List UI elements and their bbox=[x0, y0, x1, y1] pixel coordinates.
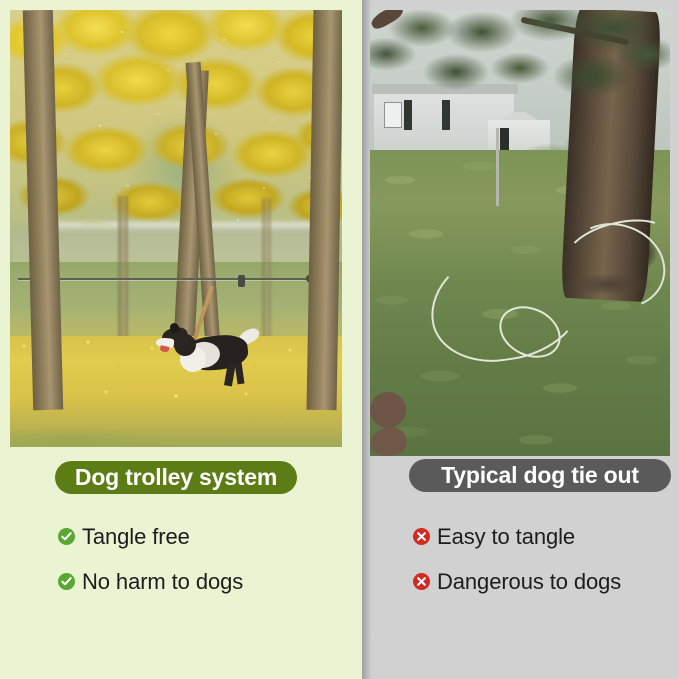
background-trunk-right bbox=[262, 198, 271, 338]
comparison-infographic: Dog trolley system Tangle free No harm t… bbox=[0, 0, 679, 679]
x-circle-icon bbox=[413, 573, 430, 590]
right-feature-list: Easy to tangle Dangerous to dogs bbox=[413, 518, 679, 608]
right-panel-title-text: Typical dog tie out bbox=[441, 462, 639, 489]
dog-trolley-photo bbox=[10, 10, 342, 447]
list-item: Dangerous to dogs bbox=[413, 563, 679, 600]
list-item: Tangle free bbox=[58, 518, 358, 555]
feature-label: Easy to tangle bbox=[437, 524, 575, 550]
x-circle-icon bbox=[413, 528, 430, 545]
trolley-cable bbox=[18, 278, 334, 280]
feature-label: Dangerous to dogs bbox=[437, 569, 621, 595]
dog-tie-out-photo bbox=[370, 10, 670, 456]
check-circle-icon bbox=[58, 573, 75, 590]
right-tree-trunk bbox=[307, 10, 342, 410]
canopy-light-specks bbox=[10, 10, 342, 255]
left-panel-title-text: Dog trolley system bbox=[75, 464, 277, 491]
check-circle-icon bbox=[58, 528, 75, 545]
background-trunk-left bbox=[118, 196, 128, 346]
left-feature-list: Tangle free No harm to dogs bbox=[58, 518, 358, 608]
feature-label: Tangle free bbox=[82, 524, 190, 550]
trolley-runner-pulley bbox=[238, 275, 245, 287]
feature-label: No harm to dogs bbox=[82, 569, 243, 595]
right-panel-title-pill: Typical dog tie out bbox=[409, 459, 671, 492]
left-panel-title-pill: Dog trolley system bbox=[55, 461, 297, 494]
list-item: Easy to tangle bbox=[413, 518, 679, 555]
right-comparison-panel: Typical dog tie out Easy to tangle Dange… bbox=[362, 0, 679, 679]
tree-canopy bbox=[370, 10, 670, 140]
left-comparison-panel: Dog trolley system Tangle free No harm t… bbox=[0, 0, 362, 679]
list-item: No harm to dogs bbox=[58, 563, 358, 600]
